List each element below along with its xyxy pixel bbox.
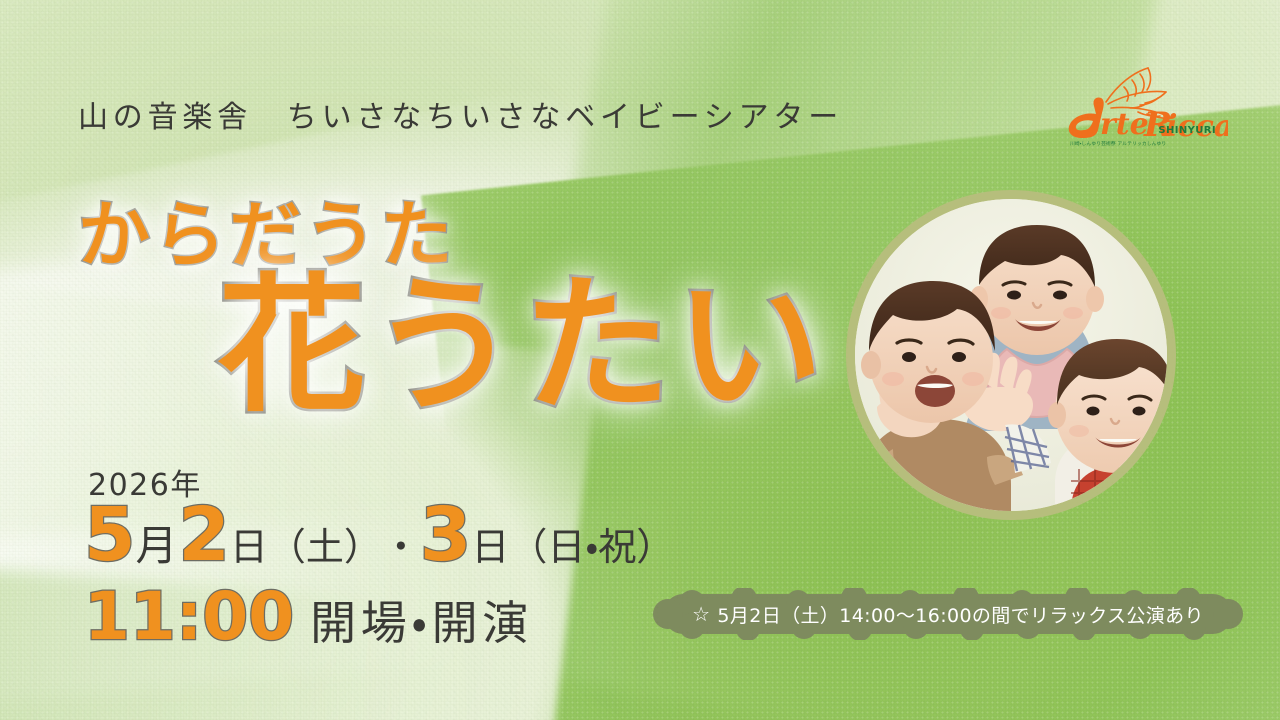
date-day2-label: 日（日・祝） bbox=[471, 528, 674, 566]
date-day1-label: 日（土） bbox=[230, 528, 382, 566]
date-day2-number: 3 bbox=[420, 498, 472, 572]
performance-time-row: 11 : 00 開場・開演 bbox=[84, 584, 533, 650]
star-icon: ☆ bbox=[692, 604, 710, 624]
header-series-title: 山の音楽舎 ちいさなちいさなベイビーシアター bbox=[78, 92, 843, 136]
logo-subtitle: SHINYURI bbox=[1158, 125, 1216, 136]
time-label: 開場・開演 bbox=[310, 600, 533, 646]
babies-photo-circle bbox=[846, 190, 1176, 520]
date-month-label: 月 bbox=[136, 525, 179, 567]
date-day1-number: 2 bbox=[178, 498, 230, 572]
svg-text:rte: rte bbox=[1100, 107, 1149, 142]
time-hour: 11 bbox=[84, 584, 176, 650]
banner-text-container: ☆ 5月2日（土）14:00〜16:00の間でリラックス公演あり bbox=[648, 588, 1248, 640]
arte-ricca-logo[interactable]: rte R icca SHINYURI 川崎・しんゆり芸術祭 アルテリッカしんゆ… bbox=[1048, 58, 1228, 148]
photo-image bbox=[855, 199, 1167, 511]
arte-ricca-wordmark: rte R icca bbox=[1069, 97, 1228, 145]
time-colon: : bbox=[176, 584, 202, 650]
main-title-hanautai: 花うたい bbox=[218, 272, 828, 420]
poster-canvas: 山の音楽舎 ちいさなちいさなベイビーシアター rte R bbox=[0, 0, 1280, 720]
banner-message: 5月2日（土）14:00〜16:00の間でリラックス公演あり bbox=[717, 601, 1204, 628]
relax-performance-banner: ☆ 5月2日（土）14:00〜16:00の間でリラックス公演あり bbox=[648, 588, 1248, 640]
performance-date-row: 5 月 2 日（土） ・ 3 日（日・祝） bbox=[84, 498, 674, 572]
date-month-number: 5 bbox=[84, 498, 136, 572]
time-minute: 00 bbox=[202, 584, 294, 650]
logo-tagline: 川崎・しんゆり芸術祭 アルテリッカしんゆり bbox=[1070, 140, 1166, 147]
date-separator: ・ bbox=[382, 528, 420, 566]
